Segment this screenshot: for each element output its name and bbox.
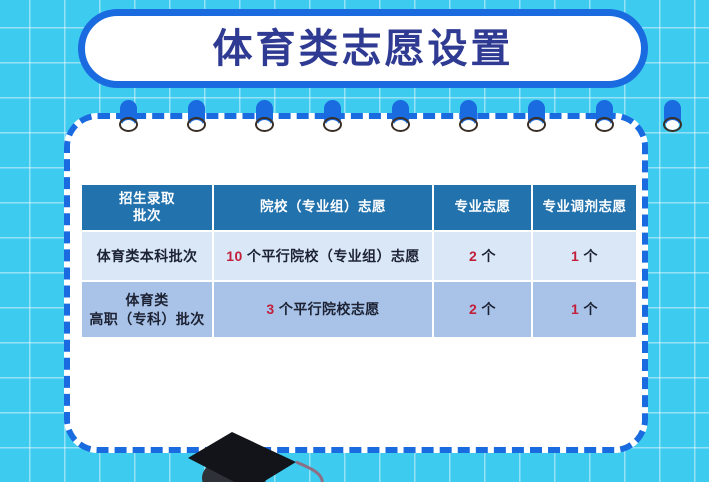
graduation-cap-icon	[170, 430, 340, 482]
column-header-batch-line2: 批次	[82, 208, 212, 225]
poster-canvas: 体育类志愿设置	[0, 0, 709, 482]
column-header-adjust: 专业调剂志愿	[533, 185, 636, 230]
cell-college-text: 个平行院校（专业组）志愿	[243, 248, 420, 264]
cell-major-text: 个	[477, 301, 496, 317]
cell-batch: 体育类本科批次	[82, 232, 212, 280]
cell-college: 10 个平行院校（专业组）志愿	[214, 232, 432, 280]
cell-adjust-text: 个	[579, 248, 598, 264]
cell-college: 3 个平行院校志愿	[214, 282, 432, 337]
table-row: 体育类 高职（专科）批次 3 个平行院校志愿 2 个 1 个	[82, 282, 636, 337]
cell-adjust-text: 个	[579, 301, 598, 317]
cell-major-text: 个	[477, 248, 496, 264]
cell-college-number: 10	[226, 248, 242, 264]
cell-college-text: 个平行院校志愿	[275, 301, 380, 317]
column-header-college: 院校（专业组）志愿	[214, 185, 432, 230]
cell-adjust: 1 个	[533, 232, 636, 280]
cell-major: 2 个	[434, 232, 531, 280]
cell-adjust-number: 1	[571, 248, 579, 264]
cell-major: 2 个	[434, 282, 531, 337]
page-title: 体育类志愿设置	[213, 29, 514, 69]
cell-major-number: 2	[469, 301, 477, 317]
cell-college-number: 3	[266, 301, 274, 317]
table-header: 招生录取 批次 院校（专业组）志愿 专业志愿 专业调剂志愿	[82, 185, 636, 230]
column-header-major: 专业志愿	[434, 185, 531, 230]
cell-adjust-number: 1	[571, 301, 579, 317]
column-header-batch-line1: 招生录取	[82, 191, 212, 208]
title-banner: 体育类志愿设置	[78, 9, 648, 88]
cell-adjust: 1 个	[533, 282, 636, 337]
cell-batch-line1: 体育类	[82, 291, 212, 310]
volunteer-settings-table: 招生录取 批次 院校（专业组）志愿 专业志愿 专业调剂志愿 体育类本科批次 10…	[80, 183, 638, 339]
cell-major-number: 2	[469, 248, 477, 264]
column-header-batch: 招生录取 批次	[82, 185, 212, 230]
cell-batch-line2: 高职（专科）批次	[82, 310, 212, 329]
table-header-row: 招生录取 批次 院校（专业组）志愿 专业志愿 专业调剂志愿	[82, 185, 636, 230]
cell-batch: 体育类 高职（专科）批次	[82, 282, 212, 337]
table-row: 体育类本科批次 10 个平行院校（专业组）志愿 2 个 1 个	[82, 232, 636, 280]
table-body: 体育类本科批次 10 个平行院校（专业组）志愿 2 个 1 个 体育类 高职（专…	[82, 232, 636, 337]
